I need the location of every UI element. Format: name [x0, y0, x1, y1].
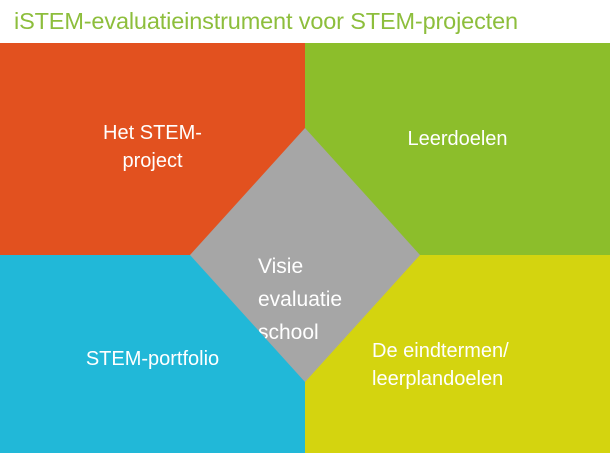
quadrant-label-stem-portfolio: STEM-portfolio — [86, 345, 219, 373]
quadrant-label-leerdoelen: Leerdoelen — [407, 125, 507, 153]
quadrant-label-het-stem-project: Het STEM- project — [103, 119, 202, 175]
page-root: iSTEM-evaluatieinstrument voor STEM-proj… — [0, 0, 610, 453]
quadrant-label-de-eindtermen-leerplandoelen: De eindtermen/ leerplandoelen — [372, 337, 509, 393]
quadrant-diagram: Het STEM- project Leerdoelen STEM-portfo… — [0, 43, 610, 453]
page-title: iSTEM-evaluatieinstrument voor STEM-proj… — [14, 6, 518, 36]
title-bar: iSTEM-evaluatieinstrument voor STEM-proj… — [0, 0, 610, 43]
